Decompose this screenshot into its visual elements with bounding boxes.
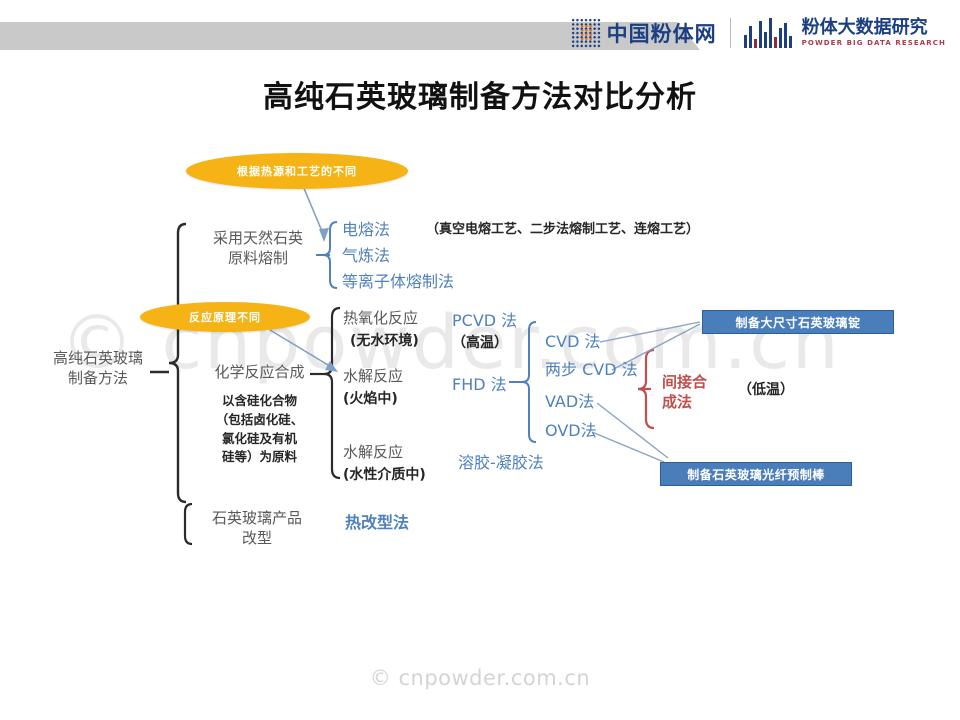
branch-natural-quartz-label[interactable]: 采用天然石英 原料熔制 (193, 228, 323, 269)
method-sol-gel[interactable]: 溶胶-凝胶法 (458, 452, 578, 474)
oval-reaction-principle[interactable]: 反应原理不同 (140, 302, 310, 332)
reaction-thermal-oxidation-cond: (无水环境) (350, 332, 460, 351)
page-title: 高纯石英玻璃制备方法对比分析 (0, 72, 960, 116)
output-box-fiber-preform[interactable]: 制备石英玻璃光纤预制棒 (660, 462, 852, 486)
method-ovd[interactable]: OVD法 (545, 420, 655, 442)
branch-chemical-synthesis-label[interactable]: 化学反应合成 (192, 362, 327, 382)
method-pcvd-note: （高温） (452, 334, 552, 353)
brand-right-label: 粉体大数据研究 (802, 19, 946, 38)
method-vad[interactable]: VAD法 (545, 391, 655, 413)
reaction-hydrolysis-aqueous-cond: (水性介质中) (343, 466, 463, 485)
brand-logo-area: 中国粉体网 粉体大数据研究 POWDER BIG DATA RESEARCH (571, 10, 946, 56)
branch-chemical-synthesis-note: 以含硅化合物 （包括卤化硅、 氯化硅及有机 硅等）为原料 (192, 392, 327, 467)
oval-heat-source[interactable]: 根据热源和工艺的不同 (186, 153, 408, 189)
method-fhd[interactable]: FHD 法 (452, 374, 542, 396)
bar-chart-icon (744, 18, 794, 48)
method-plasma-melting[interactable]: 等离子体熔制法 (342, 271, 522, 293)
output-box-large-ingot[interactable]: 制备大尺寸石英玻璃锭 (702, 310, 894, 334)
reaction-hydrolysis-flame-cond: (火焰中) (343, 390, 443, 409)
reaction-thermal-oxidation[interactable]: 热氧化反应 (343, 308, 453, 328)
slide-canvas: 中国粉体网 粉体大数据研究 POWDER BIG DATA RESEARCH 高… (0, 0, 960, 720)
brand-right-sublabel: POWDER BIG DATA RESEARCH (802, 39, 946, 47)
method-two-step-cvd[interactable]: 两步 CVD 法 (545, 359, 665, 381)
indirect-synthesis-label[interactable]: 间接合 成法 (662, 372, 722, 413)
method-cvd[interactable]: CVD 法 (545, 331, 655, 353)
indirect-synthesis-note: （低温） (738, 381, 818, 400)
footer-watermark: © cnpowder.com.cn (0, 666, 960, 690)
method-gas-refining[interactable]: 气炼法 (342, 245, 462, 267)
reaction-hydrolysis-aqueous[interactable]: 水解反应 (343, 442, 453, 462)
reaction-hydrolysis-flame[interactable]: 水解反应 (343, 366, 443, 386)
method-pcvd[interactable]: PCVD 法 (452, 310, 552, 332)
logo-divider (730, 18, 731, 48)
cnpowder-logo-icon (571, 18, 601, 48)
method-thermal-reforming[interactable]: 热改型法 (345, 512, 465, 534)
branch-product-modification-label[interactable]: 石英玻璃产品 改型 (192, 508, 322, 549)
root-node[interactable]: 高纯石英玻璃 制备方法 (44, 348, 152, 389)
brand-left-label: 中国粉体网 (607, 18, 717, 48)
method-electric-melting-note: （真空电熔工艺、二步法熔制工艺、连熔工艺） (426, 221, 756, 239)
